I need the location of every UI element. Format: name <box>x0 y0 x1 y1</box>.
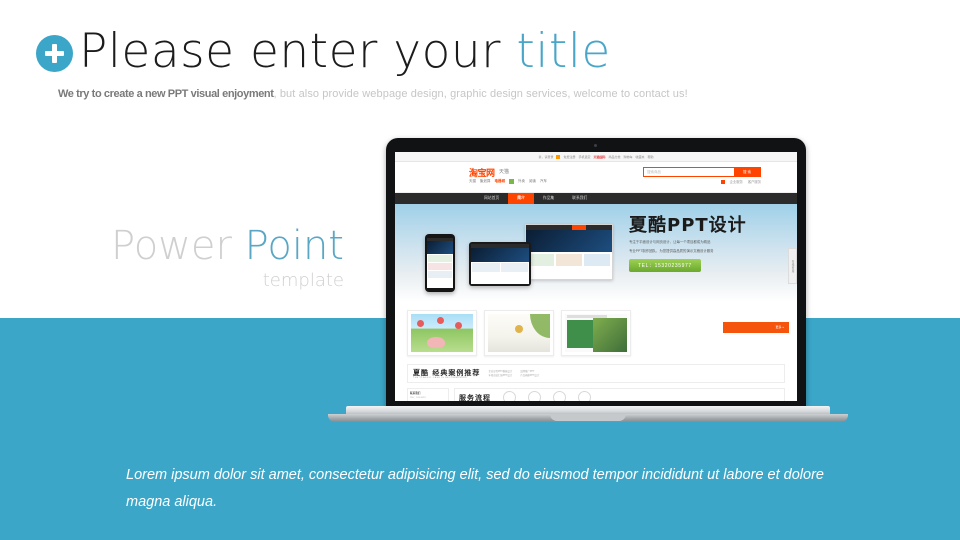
service-process-title: 服务流程 <box>459 393 491 402</box>
classic-heading-group: 夏酷 经典案例推荐 THE CLASSIC CASE IS RECOMMENDE… <box>413 369 480 379</box>
website-preview: 亲，请登录 免费注册 手机退定 天猫国际 商品分类 购物车 收藏夹 帮助 淘宝网… <box>395 152 797 401</box>
laptop-base-notch <box>550 414 626 421</box>
body-paragraph: Lorem ipsum dolor sit amet, consectetur … <box>126 462 838 516</box>
hero-tablet-icon <box>469 242 531 286</box>
page-title-prefix: Please enter your <box>79 24 516 79</box>
laptop-base <box>328 406 848 422</box>
site-main-nav: 网站首页 简介 作品集 联系我们 <box>395 193 797 204</box>
site-hero-banner: 夏酷PPT设计 专注于平面设计与网页设计，让每一个项目都成为精品 专业PPT制作… <box>395 204 797 302</box>
monitor-card <box>584 254 610 266</box>
classic-column-2: 品牌推广PPT 产品画册PPT设计 <box>520 370 539 378</box>
site-header-links: 企业服务 客户服务 <box>721 179 761 184</box>
utility-link-help[interactable]: 帮助 <box>648 155 654 159</box>
tablet-screen <box>471 244 529 284</box>
tablet-card <box>501 263 529 272</box>
phone-card <box>428 255 452 262</box>
powerpoint-wordmark: Power Point template <box>100 224 344 292</box>
slide-canvas: Please enter your title We try to create… <box>0 0 960 540</box>
process-step-icon <box>578 391 591 401</box>
laptop-lid: 亲，请登录 免费注册 手机退定 天猫国际 商品分类 购物车 收藏夹 帮助 淘宝网… <box>386 138 806 410</box>
balloon-icon <box>455 322 462 329</box>
title-row: Please enter your title <box>36 28 916 75</box>
classic-cases-strip: 夏酷 经典案例推荐 THE CLASSIC CASE IS RECOMMENDE… <box>407 364 785 383</box>
monitor-card-row <box>526 252 612 268</box>
site-header: 淘宝网 Taobao.com 天猫 搜索商品 搜 索 天猫 聚划算 电器城 <box>395 162 797 193</box>
phone-card <box>428 263 452 270</box>
classic-col1-line1[interactable]: 企业宣传PPT模板设计 <box>488 370 512 374</box>
classic-title: 夏酷 经典案例推荐 <box>413 369 480 377</box>
powerpoint-wordmark-line: Power Point <box>100 224 344 268</box>
utility-link-cart[interactable]: 购物车 <box>624 155 633 159</box>
case-card-row: 更多 » <box>395 302 797 356</box>
subnav-item-reading[interactable]: 阅读 <box>529 179 536 184</box>
header-link-business[interactable]: 企业服务 <box>730 179 743 184</box>
case-card-farm[interactable] <box>407 310 477 356</box>
page-subtitle-bold: We try to create a new PPT visual enjoym… <box>58 88 274 100</box>
classic-subtitle: THE CLASSIC CASE IS RECOMMENDED <box>413 377 480 379</box>
more-cases-bar[interactable]: 更多 » <box>723 322 789 333</box>
site-logo-secondary[interactable]: 天猫 <box>499 168 509 175</box>
pig-illustration <box>427 337 445 348</box>
tablet-card-row <box>471 262 529 273</box>
powerpoint-word-point: Point <box>245 223 344 269</box>
utility-link-tmall[interactable]: 天猫国际 <box>593 155 605 159</box>
subnav-item-takeout[interactable]: 外卖 <box>518 179 525 184</box>
plus-icon <box>36 35 73 72</box>
phone-hero <box>427 241 453 254</box>
monitor-card <box>528 254 554 266</box>
subnav-item-auto[interactable]: 汽车 <box>540 179 547 184</box>
tablet-hero <box>471 248 529 262</box>
solar-photo <box>593 318 627 352</box>
subnav-item-juhuasuan[interactable]: 聚划算 <box>480 179 491 184</box>
laptop-screen: 亲，请登录 免费注册 手机退定 天猫国际 商品分类 购物车 收藏夹 帮助 淘宝网… <box>395 152 797 401</box>
page-subtitle: We try to create a new PPT visual enjoym… <box>58 87 916 101</box>
service-process-box: 服务流程 <box>454 388 785 401</box>
hero-telephone-button[interactable]: TEL：15320235977 <box>629 259 701 272</box>
tablet-card <box>472 263 500 272</box>
contact-box[interactable]: 联系我们 TEL：153-2023 <box>407 388 449 401</box>
slide-header: Please enter your title We try to create… <box>36 28 916 101</box>
utility-link-category[interactable]: 商品分类 <box>609 155 621 159</box>
monitor-card <box>556 254 582 266</box>
subnav-item-appliance[interactable]: 电器城 <box>495 179 506 184</box>
site-subnav: 天猫 聚划算 电器城 外卖 阅读 汽车 <box>469 179 547 184</box>
monitor-hero <box>526 230 612 252</box>
site-bottom-row: 联系我们 TEL：153-2023 服务流程 <box>407 388 785 401</box>
nav-item-contact[interactable]: 联系我们 <box>563 193 596 204</box>
process-step-icon <box>503 391 516 401</box>
subnav-item-tmall[interactable]: 天猫 <box>469 179 476 184</box>
utility-square-icon <box>556 155 560 159</box>
page-title-highlight: title <box>516 24 610 79</box>
utility-link-login[interactable]: 亲，请登录 <box>538 155 553 159</box>
subnav-green-badge-icon <box>509 179 514 184</box>
hero-description-line2: 专业PPT制作团队，为您提供高品质的演示文稿设计服务 <box>629 248 789 254</box>
hero-device-group <box>407 220 617 296</box>
contact-box-phone: TEL：153-2023 <box>410 395 446 399</box>
header-link-support[interactable]: 客户服务 <box>748 179 761 184</box>
utility-link-register[interactable]: 免费注册 <box>563 155 575 159</box>
process-step-icon <box>528 391 541 401</box>
hero-monitor-icon <box>525 224 613 280</box>
process-step-icon <box>553 391 566 401</box>
utility-link-mobile[interactable]: 手机退定 <box>578 155 590 159</box>
nav-item-about[interactable]: 简介 <box>508 193 534 204</box>
case-card-solar[interactable] <box>561 310 631 356</box>
nav-item-home[interactable]: 网站首页 <box>475 193 508 204</box>
utility-link-favorites[interactable]: 收藏夹 <box>636 155 645 159</box>
powerpoint-word-template: template <box>100 270 344 292</box>
case-card-solar-image <box>565 314 627 352</box>
plus-icon-vertical-bar <box>52 44 57 63</box>
search-input[interactable]: 搜索商品 <box>644 168 734 176</box>
case-card-farm-image <box>411 314 473 352</box>
sun-icon <box>515 325 523 333</box>
site-logo-subtext: Taobao.com <box>469 175 483 178</box>
search-button[interactable]: 搜 索 <box>734 168 760 176</box>
page-title: Please enter your title <box>79 28 611 75</box>
balloon-icon <box>437 317 444 324</box>
site-search[interactable]: 搜索商品 搜 索 <box>643 167 761 177</box>
case-card-tea[interactable] <box>484 310 554 356</box>
site-utility-bar: 亲，请登录 免费注册 手机退定 天猫国际 商品分类 购物车 收藏夹 帮助 <box>395 152 797 162</box>
classic-column-1: 企业宣传PPT模板设计 年终总结汇报PPT设计 <box>488 370 512 378</box>
page-subtitle-light: , but also provide webpage design, graph… <box>274 88 688 100</box>
case-card-tea-image <box>488 314 550 352</box>
balloon-icon <box>417 320 424 327</box>
hero-copy: 夏酷PPT设计 专注于平面设计与网页设计，让每一个项目都成为精品 专业PPT制作… <box>629 216 789 272</box>
classic-col1-line2[interactable]: 年终总结汇报PPT设计 <box>488 374 512 378</box>
powerpoint-word-power: Power <box>111 223 245 269</box>
header-link-icon <box>721 180 725 184</box>
monitor-nav-active <box>572 225 586 230</box>
phone-card <box>428 271 452 278</box>
classic-col2-line2[interactable]: 产品画册PPT设计 <box>520 374 539 378</box>
hero-title: 夏酷PPT设计 <box>629 216 789 236</box>
hero-description-line1: 专注于平面设计与网页设计，让每一个项目都成为精品 <box>629 239 789 245</box>
laptop-base-bottom <box>328 414 848 422</box>
phone-screen <box>427 238 453 288</box>
hero-phone-icon <box>425 234 455 292</box>
leaf-icon <box>530 314 550 338</box>
nav-item-works[interactable]: 作品集 <box>534 193 563 204</box>
online-service-tab[interactable]: 在线客服 <box>788 248 797 284</box>
